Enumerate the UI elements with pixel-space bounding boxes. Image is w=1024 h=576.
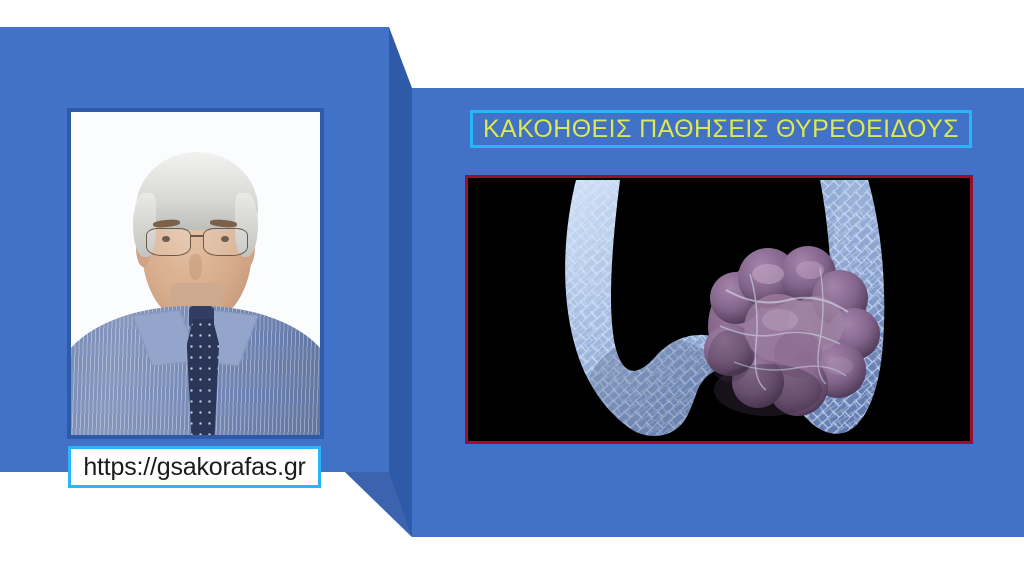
- portrait-photo: [71, 112, 320, 435]
- portrait-photo-frame: [67, 108, 324, 439]
- left-panel: https://gsakorafas.gr: [0, 27, 389, 472]
- eyeglass-bridge: [191, 235, 203, 237]
- portrait-nose: [189, 254, 201, 280]
- website-url-box[interactable]: https://gsakorafas.gr: [68, 446, 321, 488]
- thyroid-gland-svg: [468, 178, 970, 441]
- portrait-tie: [187, 319, 219, 435]
- website-url-text: https://gsakorafas.gr: [83, 453, 305, 482]
- thyroid-illustration: [468, 178, 970, 441]
- portrait-eyeglasses: [146, 228, 248, 255]
- eyeglass-lens-right: [203, 228, 248, 255]
- slide-title-box: ΚΑΚΟΗΘΕΙΣ ΠΑΘΗΣΕΙΣ ΘΥΡΕΟΕΙΔΟΥΣ: [470, 110, 972, 148]
- thyroid-illustration-frame: [465, 175, 973, 444]
- eyeglass-lens-left: [146, 228, 191, 255]
- right-panel: ΚΑΚΟΗΘΕΙΣ ΠΑΘΗΣΕΙΣ ΘΥΡΕΟΕΙΔΟΥΣ: [412, 88, 1024, 537]
- slide-title-text: ΚΑΚΟΗΘΕΙΣ ΠΑΘΗΣΕΙΣ ΘΥΡΕΟΕΙΔΟΥΣ: [483, 115, 959, 144]
- slide-canvas: https://gsakorafas.gr ΚΑΚΟΗΘΕΙΣ ΠΑΘΗΣΕΙΣ…: [0, 0, 1024, 576]
